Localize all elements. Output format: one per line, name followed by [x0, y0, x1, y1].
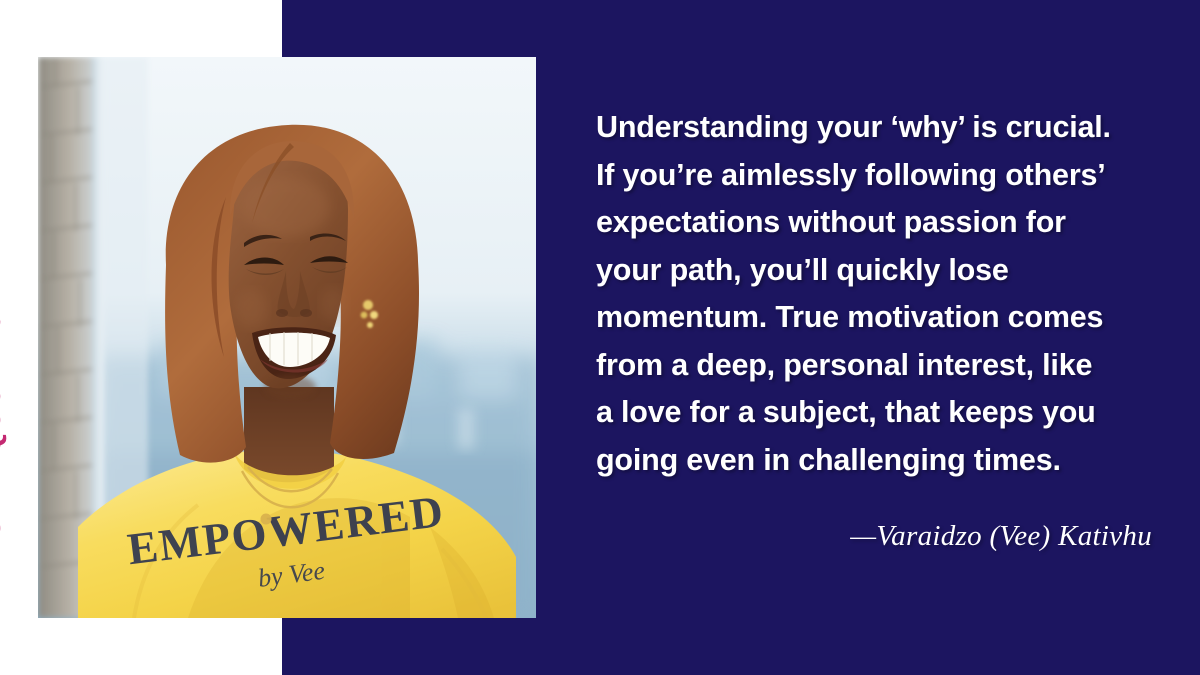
quote-line: expectations without passion for	[596, 199, 1152, 247]
quote-line: your path, you’ll quickly lose	[596, 247, 1152, 295]
quote-line: Understanding your ‘why’ is crucial.	[596, 104, 1152, 152]
quote-line: from a deep, personal interest, like	[596, 342, 1152, 390]
quote-line: a love for a subject, that keeps you	[596, 389, 1152, 437]
quote-line: going even in challenging times.	[596, 437, 1152, 485]
quote-block: Understanding your ‘why’ is crucial. If …	[596, 104, 1152, 484]
graphic-canvas: EMPOWERED by Vee	[0, 0, 1200, 675]
quote-attribution: —Varaidzo (Vee) Kativhu	[596, 520, 1152, 553]
ribbon-strip: LEADERSHIP QUOTE OF THE WEEK	[0, 0, 40, 675]
ribbon-label: LEADERSHIP QUOTE OF THE WEEK	[0, 113, 5, 669]
portrait-photo: EMPOWERED by Vee	[38, 57, 536, 618]
quote-line: If you’re aimlessly following others’	[596, 152, 1152, 200]
attribution-text: —Varaidzo (Vee) Kativhu	[850, 520, 1152, 552]
quote-line: momentum. True motivation comes	[596, 294, 1152, 342]
